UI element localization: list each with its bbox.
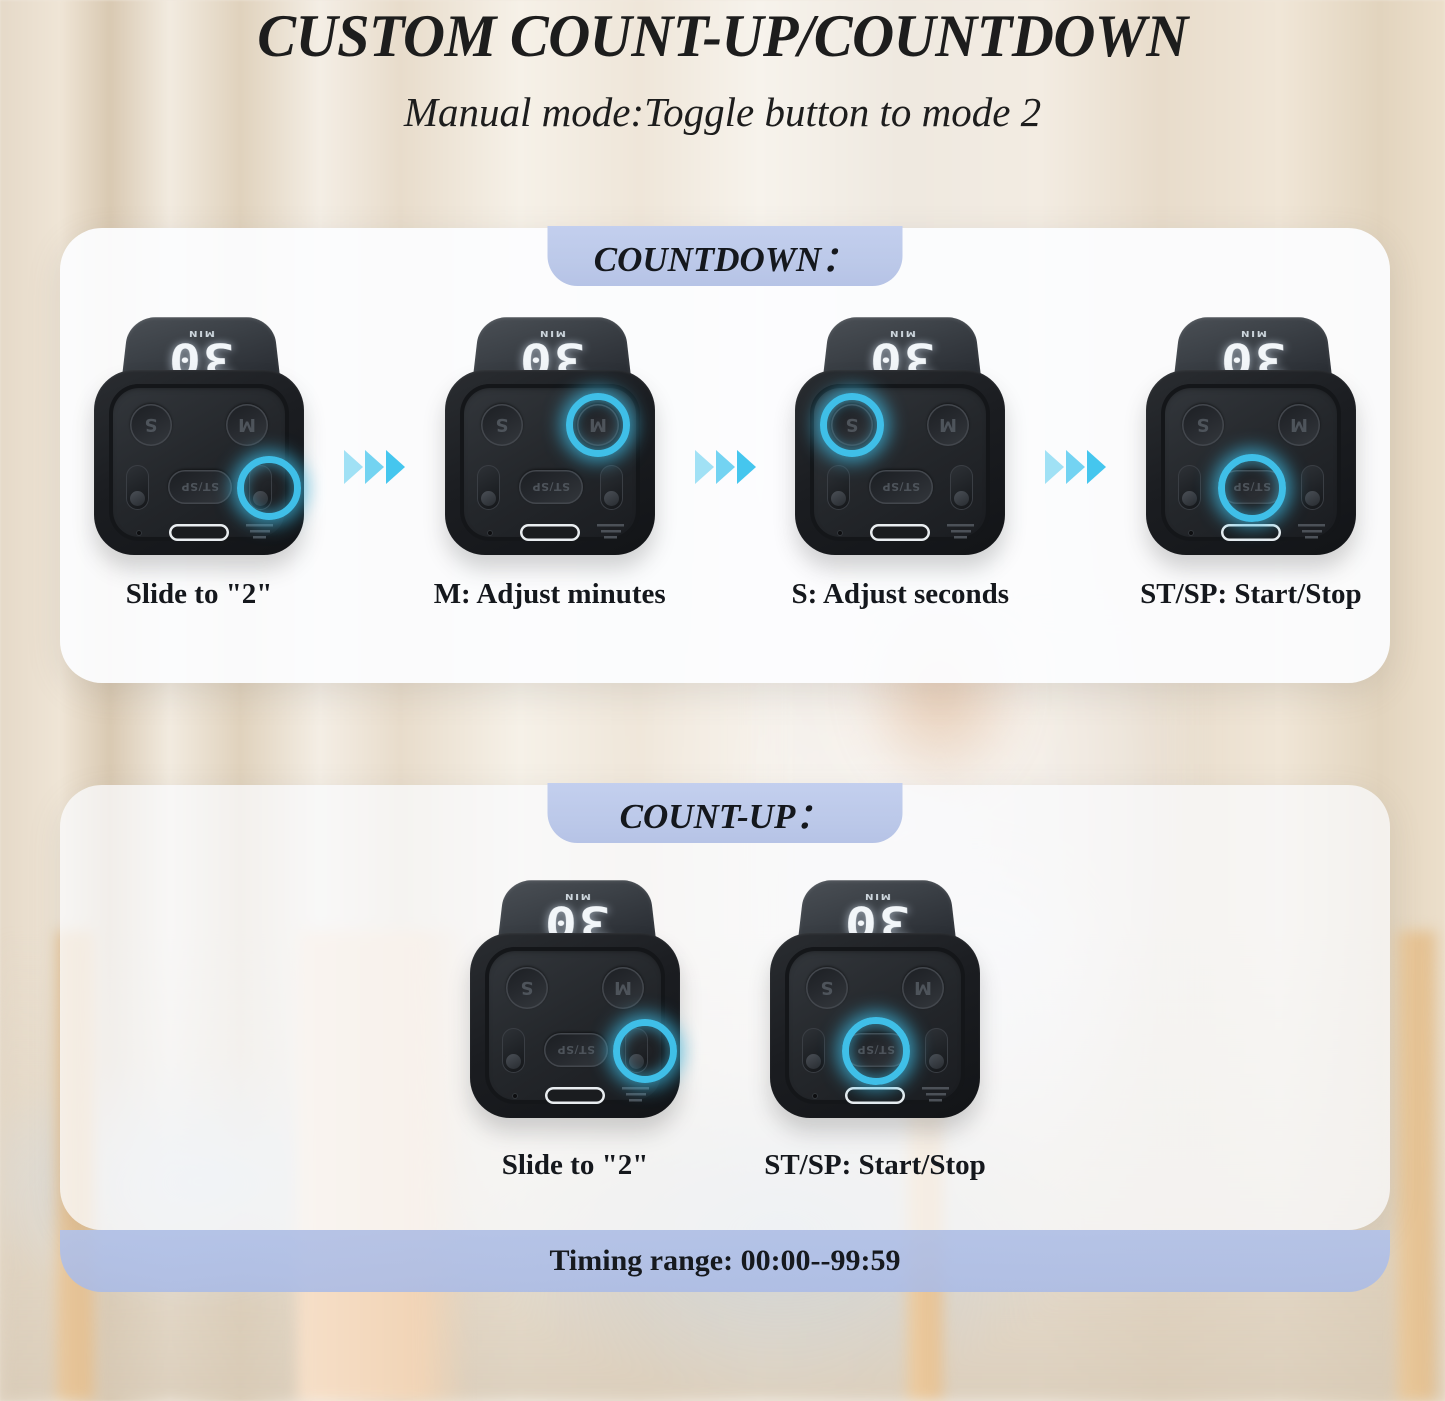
device-body: S M ST/SP [1146, 370, 1356, 555]
device-body: S M ST/SP [94, 370, 304, 555]
s-button[interactable]: S [130, 404, 172, 446]
reset-pinhole [512, 1093, 518, 1099]
arrow-separator-1 [338, 450, 410, 484]
right-toggle-switch[interactable] [950, 465, 973, 510]
reset-pinhole [136, 530, 142, 536]
step-caption: Slide to "2" [126, 578, 273, 611]
timer-device[interactable]: MIN 30 S M ST/SP [770, 855, 980, 1123]
timer-device[interactable]: MIN 30 S M ST/SP [1146, 292, 1356, 560]
s-button[interactable]: S [806, 967, 848, 1009]
left-toggle-switch[interactable] [802, 1028, 825, 1073]
chevron-right-icon [716, 450, 735, 484]
usb-c-port-icon [870, 524, 930, 541]
step-caption: ST/SP: Start/Stop [764, 1149, 986, 1182]
left-toggle-switch[interactable] [502, 1028, 525, 1073]
chevron-right-icon [1087, 450, 1106, 484]
countdown-steps-row: MIN 30 S M ST/SP Slide to "2" [60, 292, 1390, 611]
stsp-button[interactable]: ST/SP [168, 470, 232, 504]
countup-section-pill: COUNT-UP： [548, 783, 903, 843]
countup-step-2: MIN 30 S M ST/SP ST/SP: Start/Stop [725, 855, 1025, 1182]
timing-range-bar: Timing range: 00:00--99:59 [60, 1230, 1390, 1292]
countdown-step-3: MIN 30 S M ST/SP S: Adjust seconds [761, 292, 1039, 611]
speaker-grille-icon [246, 524, 273, 541]
timer-device[interactable]: MIN 30 S M ST/SP [795, 292, 1005, 560]
step-caption: Slide to "2" [502, 1149, 649, 1182]
chevron-right-icon [365, 450, 384, 484]
device-control-plate: S M ST/SP [810, 384, 990, 541]
device-control-plate: S M ST/SP [1161, 384, 1341, 541]
timer-device[interactable]: MIN 30 S M ST/SP [94, 292, 304, 560]
m-button[interactable]: M [1278, 404, 1320, 446]
step-caption: S: Adjust seconds [792, 578, 1010, 611]
reset-pinhole [812, 1093, 818, 1099]
countdown-step-1: MIN 30 S M ST/SP Slide to "2" [60, 292, 338, 611]
arrow-separator-3 [1039, 450, 1111, 484]
reset-pinhole [1188, 530, 1194, 536]
m-button[interactable]: M [577, 404, 619, 446]
stsp-button[interactable]: ST/SP [519, 470, 583, 504]
countup-steps-row: MIN 30 S M ST/SP Slide to "2" [60, 855, 1390, 1182]
countdown-step-4: MIN 30 S M ST/SP ST/SP: Start/Stop [1112, 292, 1390, 611]
usb-c-port-icon [545, 1087, 605, 1104]
step-caption: ST/SP: Start/Stop [1140, 578, 1362, 611]
page-subtitle: Manual mode:Toggle button to mode 2 [0, 88, 1445, 136]
right-toggle-switch[interactable] [600, 465, 623, 510]
countup-step-1: MIN 30 S M ST/SP Slide to "2" [425, 855, 725, 1182]
speaker-grille-icon [922, 1087, 949, 1104]
m-button[interactable]: M [602, 967, 644, 1009]
stsp-button[interactable]: ST/SP [844, 1033, 908, 1067]
step-caption: M: Adjust minutes [434, 578, 666, 611]
device-body: S M ST/SP [770, 933, 980, 1118]
s-button[interactable]: S [831, 404, 873, 446]
right-toggle-switch[interactable] [249, 465, 272, 510]
stsp-button[interactable]: ST/SP [1220, 470, 1284, 504]
speaker-grille-icon [1298, 524, 1325, 541]
device-control-plate: S M ST/SP [485, 947, 665, 1104]
m-button[interactable]: M [902, 967, 944, 1009]
stsp-button[interactable]: ST/SP [869, 470, 933, 504]
chevron-right-icon [1066, 450, 1085, 484]
page-title: CUSTOM COUNT-UP/COUNTDOWN [22, 2, 1424, 71]
right-toggle-switch[interactable] [1301, 465, 1324, 510]
right-toggle-switch[interactable] [925, 1028, 948, 1073]
speaker-grille-icon [947, 524, 974, 541]
reset-pinhole [837, 530, 843, 536]
device-body: S M ST/SP [470, 933, 680, 1118]
countdown-step-2: MIN 30 S M ST/SP M: Adjust minutes [411, 292, 689, 611]
left-toggle-switch[interactable] [1178, 465, 1201, 510]
timer-device[interactable]: MIN 30 S M ST/SP [445, 292, 655, 560]
countup-section-label: COUNT-UP： [620, 788, 831, 839]
usb-c-port-icon [845, 1087, 905, 1104]
chevron-right-icon [344, 450, 363, 484]
device-body: S M ST/SP [445, 370, 655, 555]
reset-pinhole [487, 530, 493, 536]
m-button[interactable]: M [927, 404, 969, 446]
s-button[interactable]: S [1182, 404, 1224, 446]
chevron-right-icon [695, 450, 714, 484]
speaker-grille-icon [597, 524, 624, 541]
device-control-plate: S M ST/SP [785, 947, 965, 1104]
usb-c-port-icon [520, 524, 580, 541]
timing-range-label: Timing range: 00:00--99:59 [549, 1244, 900, 1278]
device-control-plate: S M ST/SP [109, 384, 289, 541]
left-toggle-switch[interactable] [477, 465, 500, 510]
chevron-right-icon [386, 450, 405, 484]
speaker-grille-icon [622, 1087, 649, 1104]
device-body: S M ST/SP [795, 370, 1005, 555]
timer-device[interactable]: MIN 30 S M ST/SP [470, 855, 680, 1123]
left-toggle-switch[interactable] [126, 465, 149, 510]
chevron-right-icon [737, 450, 756, 484]
stsp-button[interactable]: ST/SP [544, 1033, 608, 1067]
s-button[interactable]: S [506, 967, 548, 1009]
m-button[interactable]: M [226, 404, 268, 446]
countdown-section-pill: COUNTDOWN： [548, 226, 903, 286]
usb-c-port-icon [1221, 524, 1281, 541]
device-control-plate: S M ST/SP [460, 384, 640, 541]
countdown-section-label: COUNTDOWN： [594, 231, 857, 282]
arrow-separator-2 [689, 450, 761, 484]
s-button[interactable]: S [481, 404, 523, 446]
left-toggle-switch[interactable] [827, 465, 850, 510]
chevron-right-icon [1045, 450, 1064, 484]
usb-c-port-icon [169, 524, 229, 541]
right-toggle-switch[interactable] [625, 1028, 648, 1073]
